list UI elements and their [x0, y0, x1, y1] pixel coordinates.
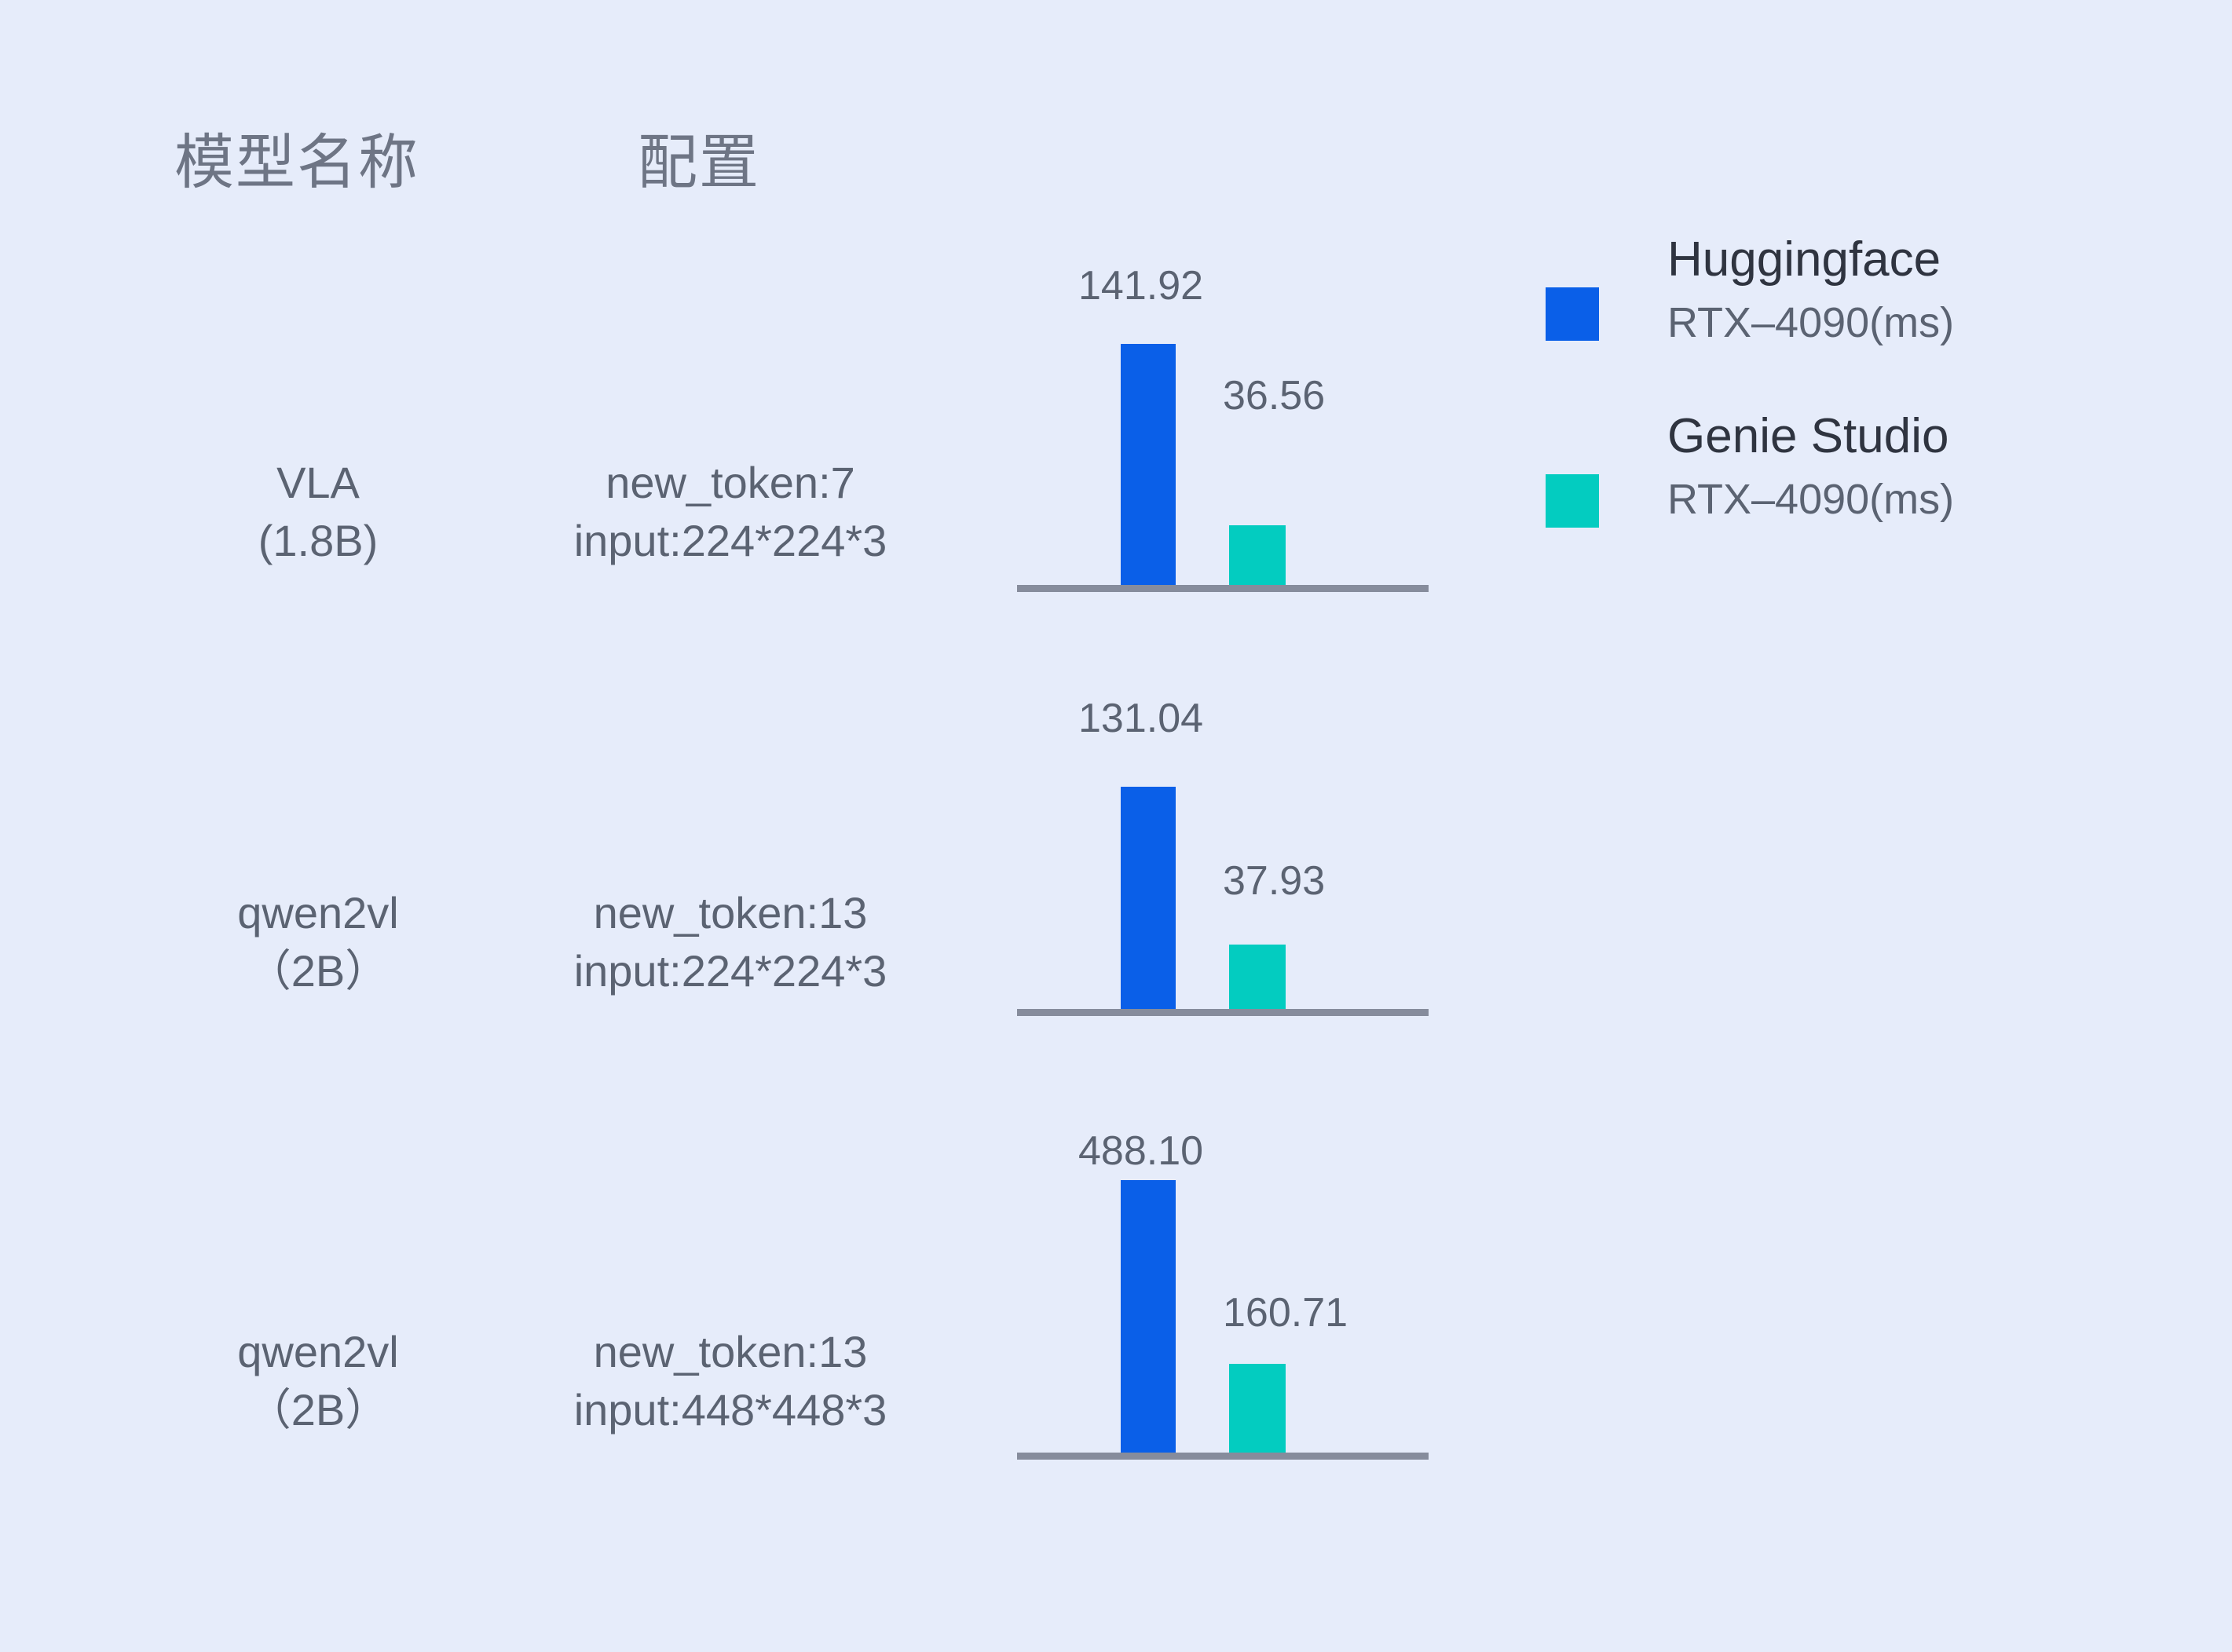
- row-baseline: [1017, 1453, 1429, 1460]
- row-model-label-line1: VLA: [169, 454, 467, 512]
- row-model-label-line2: （2B）: [169, 942, 467, 1000]
- chart-legend: Huggingface RTX–4090(ms) Genie Studio RT…: [1546, 236, 2111, 589]
- bar-value-genie-studio: 160.71: [1223, 1292, 1348, 1333]
- teal-square-swatch-icon: [1546, 474, 1599, 528]
- row-config-label-line1: new_token:13: [479, 1323, 982, 1381]
- bar-value-genie-studio: 36.56: [1223, 375, 1325, 416]
- bar-huggingface[interactable]: [1121, 787, 1176, 1009]
- row-model-label: VLA (1.8B): [169, 454, 467, 570]
- row-plot: 131.04 37.93: [1017, 684, 1429, 1022]
- row-config-label: new_token:13 input:224*224*3: [479, 884, 982, 1000]
- bar-value-genie-studio: 37.93: [1223, 861, 1325, 901]
- row-model-label: qwen2vl （2B）: [169, 1323, 467, 1439]
- row-config-label: new_token:13 input:448*448*3: [479, 1323, 982, 1439]
- bar-value-huggingface: 141.92: [1078, 265, 1203, 306]
- chart-canvas: 模型名称 配置 VLA (1.8B) new_token:7 input:224…: [0, 0, 2232, 1652]
- legend-item-name: Huggingface: [1667, 236, 1954, 284]
- column-header-config: 配置: [638, 133, 760, 193]
- legend-item-text: Huggingface RTX–4090(ms): [1667, 236, 1954, 344]
- bar-value-huggingface: 488.10: [1078, 1131, 1203, 1171]
- row-plot: 141.92 36.56: [1017, 259, 1429, 597]
- row-model-label-line2: （2B）: [169, 1381, 467, 1439]
- row-model-label: qwen2vl （2B）: [169, 884, 467, 1000]
- row-model-label-line2: (1.8B): [169, 512, 467, 570]
- row-config-label-line1: new_token:13: [479, 884, 982, 942]
- legend-item-huggingface[interactable]: Huggingface RTX–4090(ms): [1546, 236, 2111, 412]
- row-config-label-line2: input:224*224*3: [479, 512, 982, 570]
- row-config-label-line2: input:224*224*3: [479, 942, 982, 1000]
- legend-item-name: Genie Studio: [1667, 412, 1954, 461]
- legend-item-sub: RTX–4090(ms): [1667, 302, 1954, 344]
- bar-genie-studio[interactable]: [1229, 525, 1286, 585]
- legend-item-text: Genie Studio RTX–4090(ms): [1667, 412, 1954, 521]
- row-config-label: new_token:7 input:224*224*3: [479, 454, 982, 570]
- bar-value-huggingface: 131.04: [1078, 698, 1203, 739]
- legend-item-genie-studio[interactable]: Genie Studio RTX–4090(ms): [1546, 412, 2111, 589]
- legend-item-sub: RTX–4090(ms): [1667, 478, 1954, 521]
- blue-square-swatch-icon: [1546, 287, 1599, 341]
- row-config-label-line2: input:448*448*3: [479, 1381, 982, 1439]
- row-plot: 488.10 160.71: [1017, 1128, 1429, 1465]
- chart-row: qwen2vl （2B） new_token:13 input:224*224*…: [0, 684, 2232, 1029]
- bar-genie-studio[interactable]: [1229, 945, 1286, 1009]
- bar-huggingface[interactable]: [1121, 1180, 1176, 1459]
- row-baseline: [1017, 585, 1429, 592]
- row-config-label-line1: new_token:7: [479, 454, 982, 512]
- chart-row: qwen2vl （2B） new_token:13 input:448*448*…: [0, 1128, 2232, 1473]
- column-header-model-name: 模型名称: [174, 133, 419, 193]
- bar-huggingface[interactable]: [1121, 344, 1176, 585]
- bar-genie-studio[interactable]: [1229, 1364, 1286, 1453]
- row-model-label-line1: qwen2vl: [169, 1323, 467, 1381]
- row-baseline: [1017, 1009, 1429, 1016]
- row-model-label-line1: qwen2vl: [169, 884, 467, 942]
